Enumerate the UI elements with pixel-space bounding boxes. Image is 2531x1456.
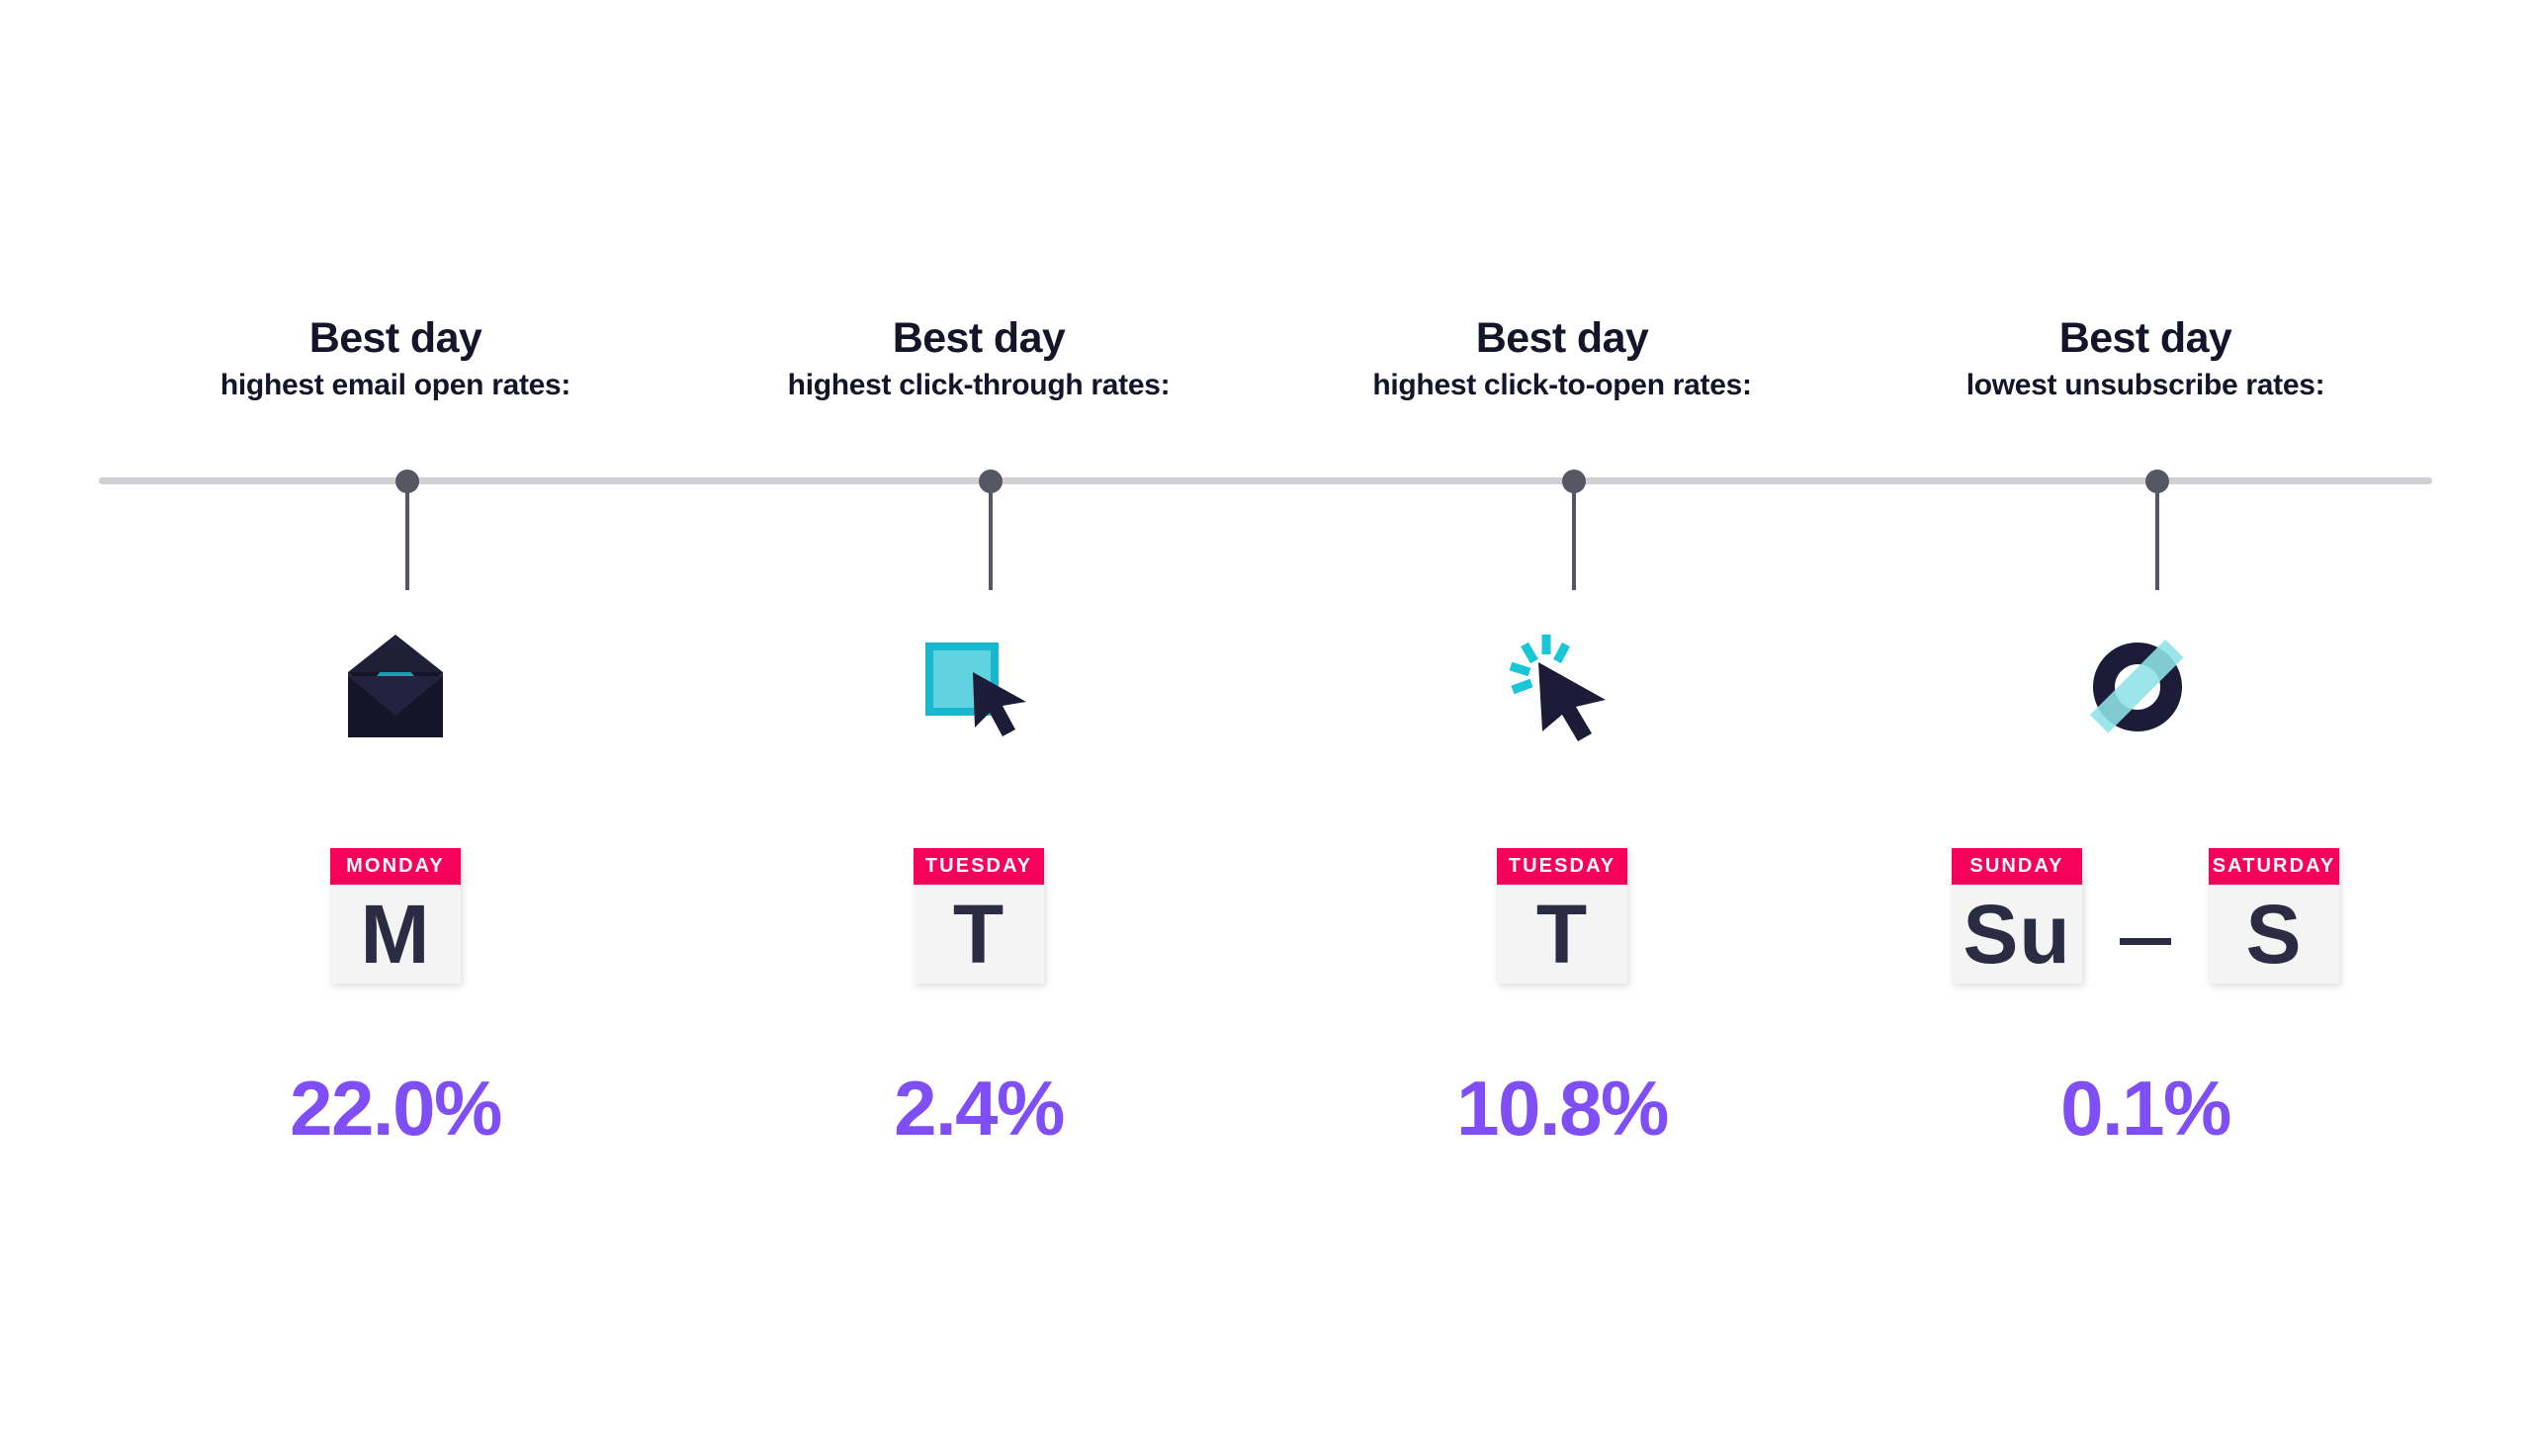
column-heading: Best day highest click-through rates: bbox=[687, 314, 1270, 403]
calendar-card[interactable]: MONDAY M bbox=[330, 848, 461, 984]
calendar-card-letter: M bbox=[330, 885, 461, 984]
open-envelope-up-arrow-icon bbox=[336, 633, 455, 741]
timeline-stem bbox=[2155, 483, 2159, 590]
column-heading: Best day highest email open rates: bbox=[104, 314, 687, 403]
cursor-on-square-icon bbox=[919, 633, 1038, 741]
no-entry-ring-icon bbox=[2086, 632, 2205, 742]
calendar-cards-row: SUNDAY Su SATURDAY S bbox=[1854, 848, 2437, 984]
timeline-stem bbox=[1572, 483, 1576, 590]
cursor-click-burst-icon bbox=[1503, 629, 1621, 745]
calendar-card-day-label: SUNDAY bbox=[1952, 848, 2082, 885]
timeline-column-open-rates: Best day highest email open rates: bbox=[104, 0, 687, 1456]
metric-value: 10.8% bbox=[1270, 1070, 1854, 1147]
timeline-column-unsubscribe-rates: Best day lowest unsubscribe rates: bbox=[1854, 0, 2437, 1456]
timeline-marker bbox=[2145, 470, 2169, 493]
calendar-card[interactable]: TUESDAY T bbox=[1497, 848, 1627, 984]
calendar-card-letter: T bbox=[1497, 885, 1627, 984]
calendar-card-day-label: MONDAY bbox=[330, 848, 461, 885]
heading-title: Best day bbox=[104, 314, 687, 362]
infographic-root: Best day highest email open rates: bbox=[0, 0, 2531, 1456]
calendar-cards-row: TUESDAY T bbox=[1270, 848, 1854, 984]
timeline-marker bbox=[395, 470, 419, 493]
column-icon-wrap bbox=[104, 623, 687, 751]
metric-value: 22.0% bbox=[104, 1070, 687, 1147]
column-icon-wrap bbox=[1270, 623, 1854, 751]
calendar-card-day-label: SATURDAY bbox=[2209, 848, 2339, 885]
calendar-card-day-label: TUESDAY bbox=[914, 848, 1044, 885]
timeline-column-click-to-open-rates: Best day highest click-to-open rates: bbox=[1270, 0, 1854, 1456]
column-heading: Best day lowest unsubscribe rates: bbox=[1854, 314, 2437, 403]
calendar-card-letter: T bbox=[914, 885, 1044, 984]
heading-subtitle: highest email open rates: bbox=[104, 368, 687, 403]
column-heading: Best day highest click-to-open rates: bbox=[1270, 314, 1854, 403]
timeline-marker bbox=[1562, 470, 1586, 493]
card-range-dash-icon bbox=[2120, 938, 2171, 945]
calendar-card[interactable]: SATURDAY S bbox=[2209, 848, 2339, 984]
timeline-column-click-through-rates: Best day highest click-through rates: bbox=[687, 0, 1270, 1456]
metric-value: 2.4% bbox=[687, 1070, 1270, 1147]
column-icon-wrap bbox=[1854, 623, 2437, 751]
column-icon-wrap bbox=[687, 623, 1270, 751]
timeline-stem bbox=[405, 483, 409, 590]
heading-title: Best day bbox=[1270, 314, 1854, 362]
metric-value: 0.1% bbox=[1854, 1070, 2437, 1147]
timeline-columns: Best day highest email open rates: bbox=[0, 0, 2531, 1456]
timeline-marker bbox=[979, 470, 1003, 493]
heading-subtitle: highest click-to-open rates: bbox=[1270, 368, 1854, 403]
heading-subtitle: highest click-through rates: bbox=[687, 368, 1270, 403]
calendar-cards-row: MONDAY M bbox=[104, 848, 687, 984]
calendar-card-letter: S bbox=[2209, 885, 2339, 984]
heading-subtitle: lowest unsubscribe rates: bbox=[1854, 368, 2437, 403]
heading-title: Best day bbox=[687, 314, 1270, 362]
calendar-cards-row: TUESDAY T bbox=[687, 848, 1270, 984]
calendar-card[interactable]: TUESDAY T bbox=[914, 848, 1044, 984]
calendar-card-day-label: TUESDAY bbox=[1497, 848, 1627, 885]
calendar-card[interactable]: SUNDAY Su bbox=[1952, 848, 2082, 984]
timeline-stem bbox=[989, 483, 993, 590]
heading-title: Best day bbox=[1854, 314, 2437, 362]
calendar-card-letter: Su bbox=[1952, 885, 2082, 984]
